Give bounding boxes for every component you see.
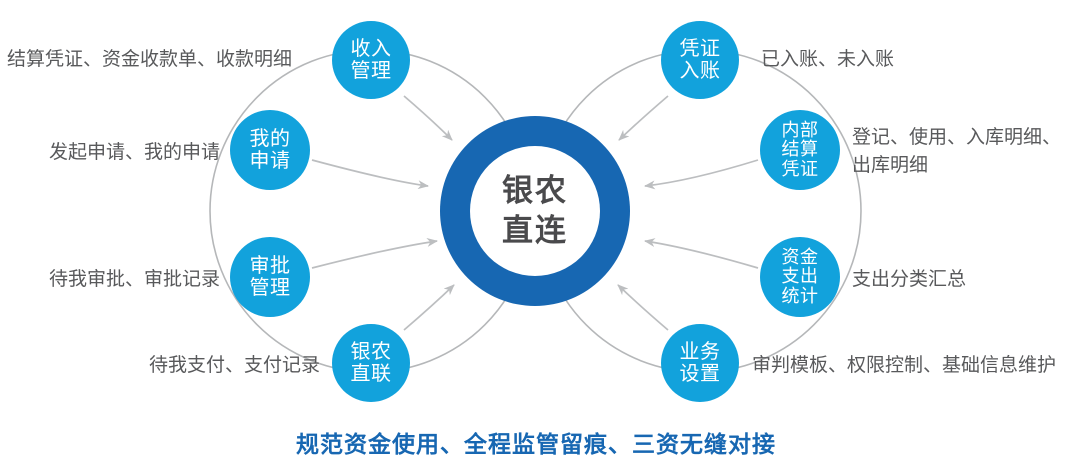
node-internal-settle-voucher-line2: 结算 (782, 140, 819, 159)
node-fund-expense-statistics-line3: 统计 (782, 287, 819, 306)
center-hub-line2: 直连 (502, 211, 568, 251)
node-business-settings-line2: 设置 (680, 363, 721, 385)
arrow-fund-expense-statistics (645, 241, 758, 268)
caption-my-application: 发起申请、我的申请 (49, 139, 220, 167)
arrow-bank-direct-connect (404, 285, 454, 330)
node-voucher-posting[interactable]: 凭证 入账 (661, 21, 739, 99)
node-fund-expense-statistics-line2: 支出 (782, 267, 819, 286)
node-bank-direct-connect-line2: 直联 (351, 363, 392, 385)
caption-bank-direct-connect: 待我支付、支付记录 (149, 352, 320, 380)
arrow-voucher-posting (619, 96, 668, 140)
node-internal-settle-voucher[interactable]: 内部 结算 凭证 (760, 110, 840, 190)
node-approval-management-line2: 管理 (250, 277, 291, 299)
node-my-application-line2: 申请 (250, 150, 291, 172)
arrow-income-management (404, 96, 452, 140)
node-income-management[interactable]: 收入 管理 (332, 21, 410, 99)
node-fund-expense-statistics[interactable]: 资金 支出 统计 (760, 237, 840, 317)
caption-approval-management: 待我审批、审批记录 (49, 266, 220, 294)
node-voucher-posting-line2: 入账 (680, 60, 721, 82)
node-income-management-line1: 收入 (351, 38, 392, 60)
node-business-settings[interactable]: 业务 设置 (661, 324, 739, 402)
center-hub-line1: 银农 (502, 171, 568, 211)
diagram-canvas: 银农 直连 收入 管理 我的 申请 审批 管理 银农 直联 凭证 入账 内部 结… (0, 0, 1072, 471)
caption-internal-settle-voucher: 登记、使用、入库明细、 出库明细 (852, 124, 1061, 179)
center-hub[interactable]: 银农 直连 (440, 116, 630, 306)
center-hub-inner: 银农 直连 (470, 146, 600, 276)
node-my-application[interactable]: 我的 申请 (230, 110, 310, 190)
node-fund-expense-statistics-line1: 资金 (782, 248, 819, 267)
node-my-application-line1: 我的 (250, 128, 291, 150)
node-voucher-posting-line1: 凭证 (680, 38, 721, 60)
arrow-approval-management (312, 241, 437, 268)
caption-voucher-posting: 已入账、未入账 (761, 46, 894, 74)
arrow-my-application (312, 160, 428, 186)
node-bank-direct-connect-line1: 银农 (351, 341, 392, 363)
node-business-settings-line1: 业务 (680, 341, 721, 363)
node-income-management-line2: 管理 (351, 60, 392, 82)
node-approval-management[interactable]: 审批 管理 (230, 237, 310, 317)
slogan-text: 规范资金使用、全程监管留痕、三资无缝对接 (0, 425, 1072, 459)
caption-income-management: 结算凭证、资金收款单、收款明细 (7, 46, 292, 74)
arrow-internal-settle-voucher (645, 160, 758, 186)
node-approval-management-line1: 审批 (250, 255, 291, 277)
caption-business-settings: 审判模板、权限控制、基础信息维护 (752, 352, 1056, 380)
node-bank-direct-connect[interactable]: 银农 直联 (332, 324, 410, 402)
caption-fund-expense-statistics: 支出分类汇总 (852, 266, 966, 294)
node-internal-settle-voucher-line3: 凭证 (782, 160, 819, 179)
node-internal-settle-voucher-line1: 内部 (782, 121, 819, 140)
arrow-business-settings (618, 285, 668, 330)
